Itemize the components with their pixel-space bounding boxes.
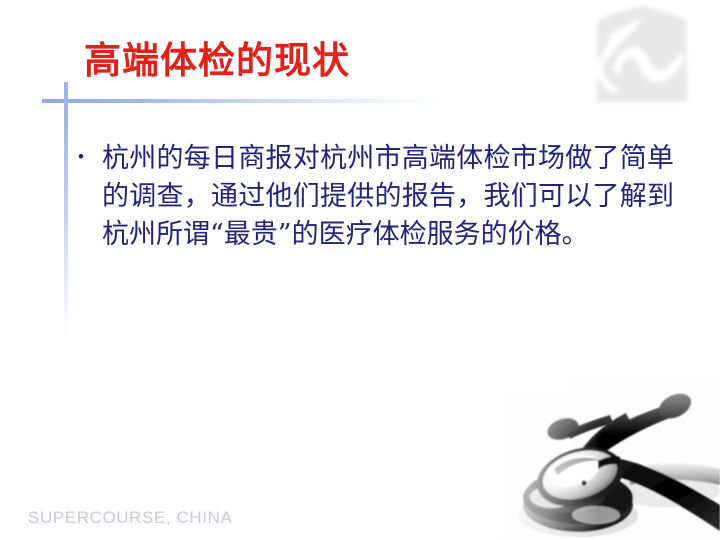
- bullet-text: 杭州的每日商报对杭州市高端体检市场做了简单的调查，通过他们提供的报告，我们可以了…: [102, 140, 674, 254]
- bullet-marker-icon: •: [78, 140, 102, 161]
- seal-stamp-icon: [586, 2, 698, 110]
- slide-canvas: 高端体检的现状 • 杭州的每日商报对杭州市高端体检市场做了简单的调查，通过他们提…: [0, 0, 720, 540]
- footer-label: SUPERCOURSE, CHINA: [28, 508, 232, 528]
- horizontal-rule: [42, 99, 442, 103]
- list-item: • 杭州的每日商报对杭州市高端体检市场做了简单的调查，通过他们提供的报告，我们可…: [78, 140, 674, 254]
- page-title: 高端体检的现状: [84, 38, 350, 84]
- vertical-rule: [64, 82, 68, 337]
- body-content: • 杭州的每日商报对杭州市高端体检市场做了简单的调查，通过他们提供的报告，我们可…: [78, 140, 674, 254]
- stethoscope-image: [470, 365, 720, 540]
